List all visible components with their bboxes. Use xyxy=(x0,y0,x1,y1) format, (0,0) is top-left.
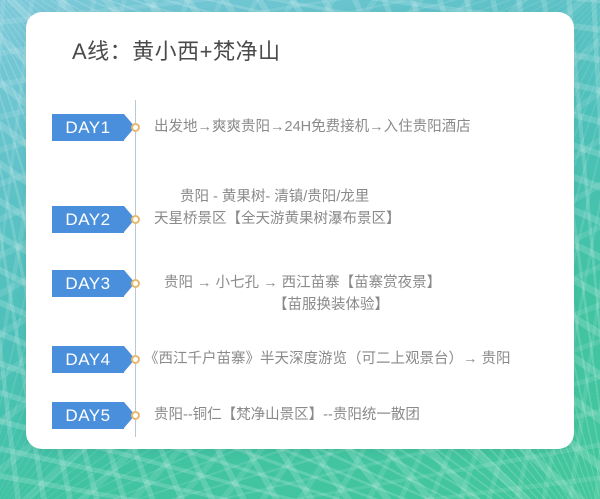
timeline-dot-3 xyxy=(131,279,140,288)
timeline-dot-5 xyxy=(131,411,140,420)
day-3-line-2: 【苗服换装体验】 xyxy=(154,294,564,316)
poster-background: A线：黄小西+梵净山 DAY1 出发地→爽爽贵阳→24H免费接机→入住贵阳酒店 … xyxy=(0,0,600,499)
day-4-line-1: 《西江千户苗寨》半天深度游览（可二上观景台）→ 贵阳 xyxy=(144,348,554,370)
day-description-3: 贵阳 → 小七孔 → 西江苗寨【苗寨赏夜景】 【苗服换装体验】 xyxy=(154,272,564,316)
day-badge-2[interactable]: DAY2 xyxy=(52,206,124,233)
day-badge-5[interactable]: DAY5 xyxy=(52,402,124,429)
day-description-2: 贵阳 - 黄果树- 清镇/贵阳/龙里 天星桥景区【全天游黄果树瀑布景区】 xyxy=(154,186,564,230)
timeline-dot-2 xyxy=(131,215,140,224)
day-description-1: 出发地→爽爽贵阳→24H免费接机→入住贵阳酒店 xyxy=(154,116,564,138)
timeline-dot-4 xyxy=(131,355,140,364)
day-2-line-2: 天星桥景区【全天游黄果树瀑布景区】 xyxy=(154,208,564,230)
itinerary-card: A线：黄小西+梵净山 DAY1 出发地→爽爽贵阳→24H免费接机→入住贵阳酒店 … xyxy=(26,12,574,449)
day-badge-1[interactable]: DAY1 xyxy=(52,114,124,141)
day-badge-3[interactable]: DAY3 xyxy=(52,270,124,297)
day-3-line-1: 贵阳 → 小七孔 → 西江苗寨【苗寨赏夜景】 xyxy=(154,272,564,294)
day-2-line-1: 贵阳 - 黄果树- 清镇/贵阳/龙里 xyxy=(154,186,564,208)
timeline-rail xyxy=(135,100,136,437)
day-badge-4[interactable]: DAY4 xyxy=(52,346,124,373)
day-description-5: 贵阳--铜仁【梵净山景区】--贵阳统一散团 xyxy=(154,404,564,426)
day-description-4: 《西江千户苗寨》半天深度游览（可二上观景台）→ 贵阳 xyxy=(144,348,554,370)
page-title: A线：黄小西+梵净山 xyxy=(72,34,281,66)
timeline-dot-1 xyxy=(131,123,140,132)
day-5-line-1: 贵阳--铜仁【梵净山景区】--贵阳统一散团 xyxy=(154,404,564,426)
day-1-line-1: 出发地→爽爽贵阳→24H免费接机→入住贵阳酒店 xyxy=(154,116,564,138)
